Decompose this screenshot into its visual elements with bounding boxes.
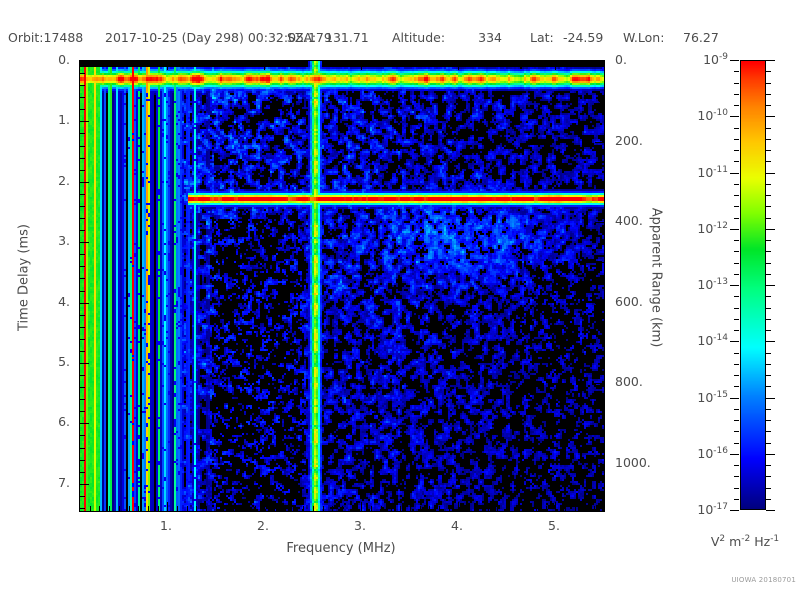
y-axis-left-tick-5: 5. <box>0 354 70 369</box>
watermark-credit: UIOWA 20180701 <box>700 576 796 584</box>
colorbar-tick-label-5: 10-14 <box>672 333 728 348</box>
y-axis-left-tick-6: 6. <box>0 414 70 429</box>
header-wlon-value: 76.27 <box>683 30 719 45</box>
x-axis-tick-4: 5. <box>534 518 574 533</box>
colorbar-tick-label-4: 10-13 <box>672 277 728 292</box>
ionogram-plot-area <box>79 60 605 512</box>
header-orbit: Orbit:17488 <box>8 30 83 45</box>
header-lat-label: Lat: <box>530 30 554 45</box>
header-wlon-label: W.Lon: <box>623 30 664 45</box>
colorbar <box>740 60 766 510</box>
y-axis-left-title: Time Delay (ms) <box>17 168 32 388</box>
y-axis-right-tick-2: 400. <box>615 213 677 228</box>
colorbar-gradient <box>740 60 766 510</box>
header-info-bar: Orbit:17488 2017-10-25 (Day 298) 00:32:0… <box>0 30 800 50</box>
y-axis-right-tick-4: 800. <box>615 374 677 389</box>
colorbar-unit-label: V2 m-2 Hz-1 <box>690 534 800 549</box>
y-axis-left-tick-3: 3. <box>0 233 70 248</box>
x-axis-tick-2: 3. <box>340 518 380 533</box>
x-axis-title: Frequency (MHz) <box>79 541 603 556</box>
y-axis-right-tick-1: 200. <box>615 133 677 148</box>
header-sza-label: SZA: <box>287 30 316 45</box>
colorbar-tick-label-3: 10-12 <box>672 221 728 236</box>
x-axis-tick-0: 1. <box>146 518 186 533</box>
y-axis-right-tick-0: 0. <box>615 52 677 67</box>
header-altitude-value: 334 <box>472 30 502 45</box>
spectrogram-image <box>80 61 604 511</box>
x-axis-tick-1: 2. <box>243 518 283 533</box>
colorbar-tick-label-8: 10-17 <box>672 502 728 517</box>
y-axis-right-title: Apparent Range (km) <box>649 168 664 388</box>
colorbar-tick-label-0: 10-9 <box>672 52 728 67</box>
y-axis-right-tick-3: 600. <box>615 294 677 309</box>
header-altitude-label: Altitude: <box>392 30 445 45</box>
y-axis-right-tick-5: 1000. <box>615 455 677 470</box>
y-axis-left-tick-0: 0. <box>0 52 70 67</box>
y-axis-left-tick-1: 1. <box>0 112 70 127</box>
y-axis-left-tick-4: 4. <box>0 294 70 309</box>
header-sza-value: 131.71 <box>325 30 369 45</box>
colorbar-tick-label-6: 10-15 <box>672 390 728 405</box>
colorbar-tick-label-2: 10-11 <box>672 165 728 180</box>
x-axis-tick-3: 4. <box>437 518 477 533</box>
header-lat-value: -24.59 <box>563 30 603 45</box>
colorbar-tick-label-7: 10-16 <box>672 446 728 461</box>
y-axis-left-tick-7: 7. <box>0 475 70 490</box>
colorbar-tick-label-1: 10-10 <box>672 108 728 123</box>
y-axis-left-tick-2: 2. <box>0 173 70 188</box>
